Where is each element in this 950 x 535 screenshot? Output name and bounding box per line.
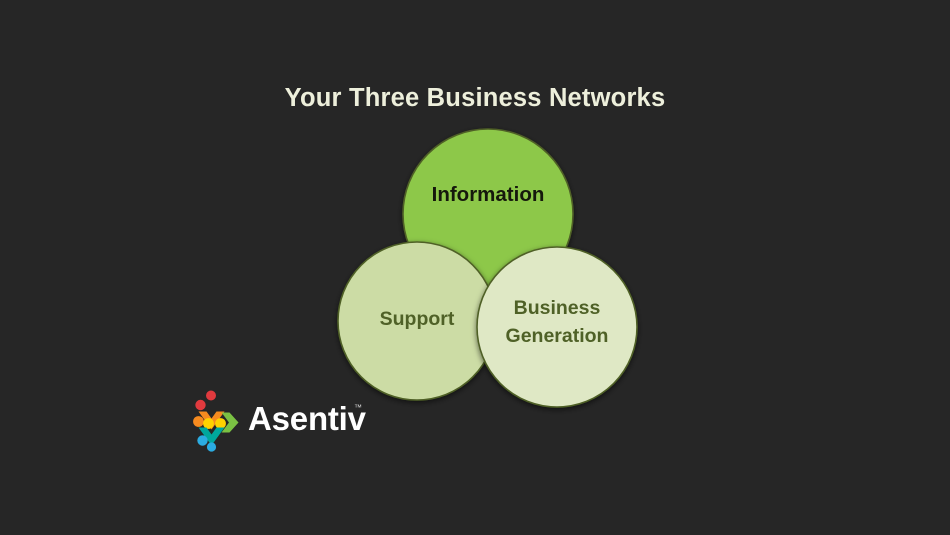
venn-circle-support[interactable] — [338, 242, 496, 400]
asentiv-wordmark: Asentiv — [248, 400, 366, 438]
trademark-symbol: ™ — [354, 403, 362, 412]
slide-canvas: Your Three Business Networks Information… — [0, 0, 950, 535]
asentiv-logo-mark-icon — [188, 390, 244, 452]
asentiv-logo[interactable]: Asentiv ™ — [188, 390, 378, 456]
venn-diagram-svg — [0, 0, 950, 535]
venn-diagram: Information Support Business Generation — [0, 0, 950, 535]
venn-circle-business-generation[interactable] — [477, 247, 637, 407]
